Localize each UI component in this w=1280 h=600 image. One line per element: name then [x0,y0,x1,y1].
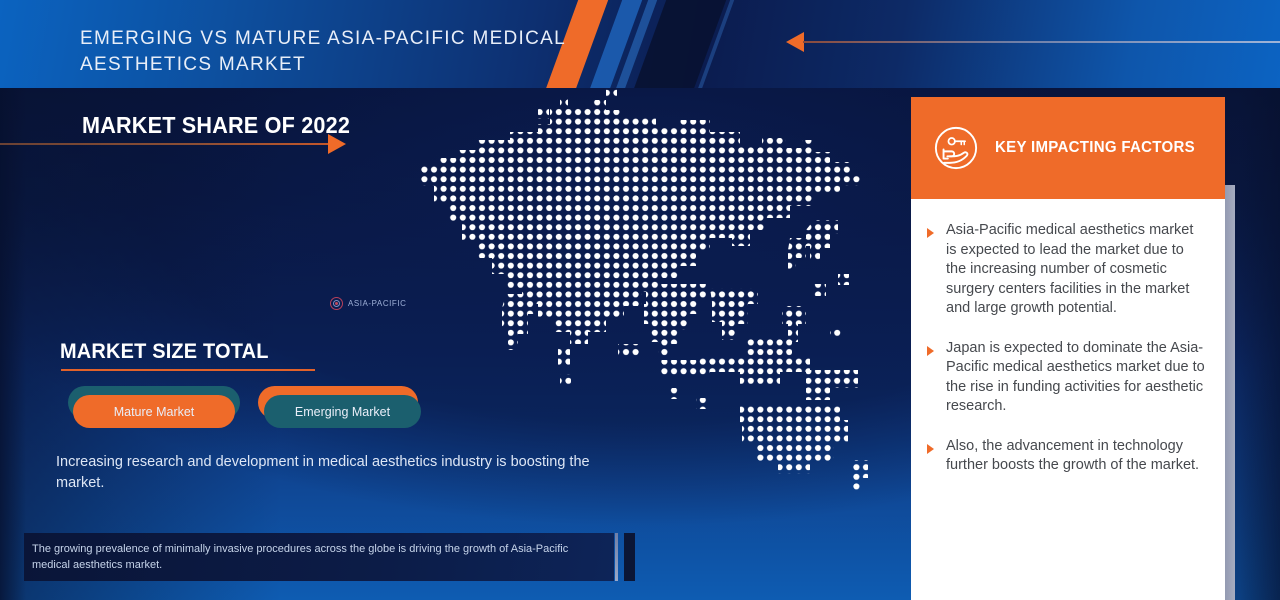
footer-accent-bar-2 [624,533,635,581]
asia-pacific-label: ASIA-PACIFIC [348,299,406,308]
legend-item-emerging[interactable]: Emerging Market [264,395,421,428]
market-size-note: Increasing research and development in m… [56,452,601,494]
key-factor-text: Asia-Pacific medical aesthetics market i… [946,221,1207,319]
legend-emerging-label: Emerging Market [295,405,390,419]
key-factors-title: KEY IMPACTING FACTORS [995,139,1195,157]
banner-arrow [786,32,1280,52]
top-banner: EMERGING VS MATURE ASIA-PACIFIC MEDICAL … [0,0,1280,88]
key-factors-header: KEY IMPACTING FACTORS [911,97,1225,199]
arrow-right-icon [328,134,346,154]
left-edge-vignette [0,88,26,600]
footer-text: The growing prevalence of minimally inva… [32,541,592,573]
arrow-left-icon [786,32,804,52]
key-factors-body: Asia-Pacific medical aesthetics market i… [911,199,1225,600]
key-factor-text: Japan is expected to dominate the Asia-P… [946,339,1207,417]
page-title: EMERGING VS MATURE ASIA-PACIFIC MEDICAL … [80,26,600,78]
key-factors-panel: KEY IMPACTING FACTORS Asia-Pacific medic… [911,97,1225,600]
bullet-arrow-icon [927,346,936,356]
hand-holding-key-icon [933,125,979,171]
legend-item-mature[interactable]: Mature Market [73,395,235,428]
bullet-arrow-icon [927,444,936,454]
bullet-arrow-icon [927,228,936,238]
map-dots-svg [410,88,870,500]
legend-mature-label: Mature Market [114,405,195,419]
key-factor-item: Asia-Pacific medical aesthetics market i… [927,221,1207,319]
infographic-canvas: EMERGING VS MATURE ASIA-PACIFIC MEDICAL … [0,0,1280,600]
key-factor-item: Also, the advancement in technology furt… [927,437,1207,476]
market-share-arrow-line [0,143,330,145]
market-size-underline [61,369,315,371]
market-share-arrow [0,134,350,154]
right-edge-vignette [1240,88,1280,600]
market-size-total-title: MARKET SIZE TOTAL [60,340,269,364]
key-factor-item: Japan is expected to dominate the Asia-P… [927,339,1207,417]
target-icon [330,297,343,310]
market-legend: Mature Market Emerging Market [60,386,460,442]
key-factor-text: Also, the advancement in technology furt… [946,437,1207,476]
dotted-world-map [410,88,870,500]
banner-arrow-line [803,41,1280,43]
asia-pacific-marker: ASIA-PACIFIC [330,297,406,310]
footer-accent-bar-1 [615,533,618,581]
